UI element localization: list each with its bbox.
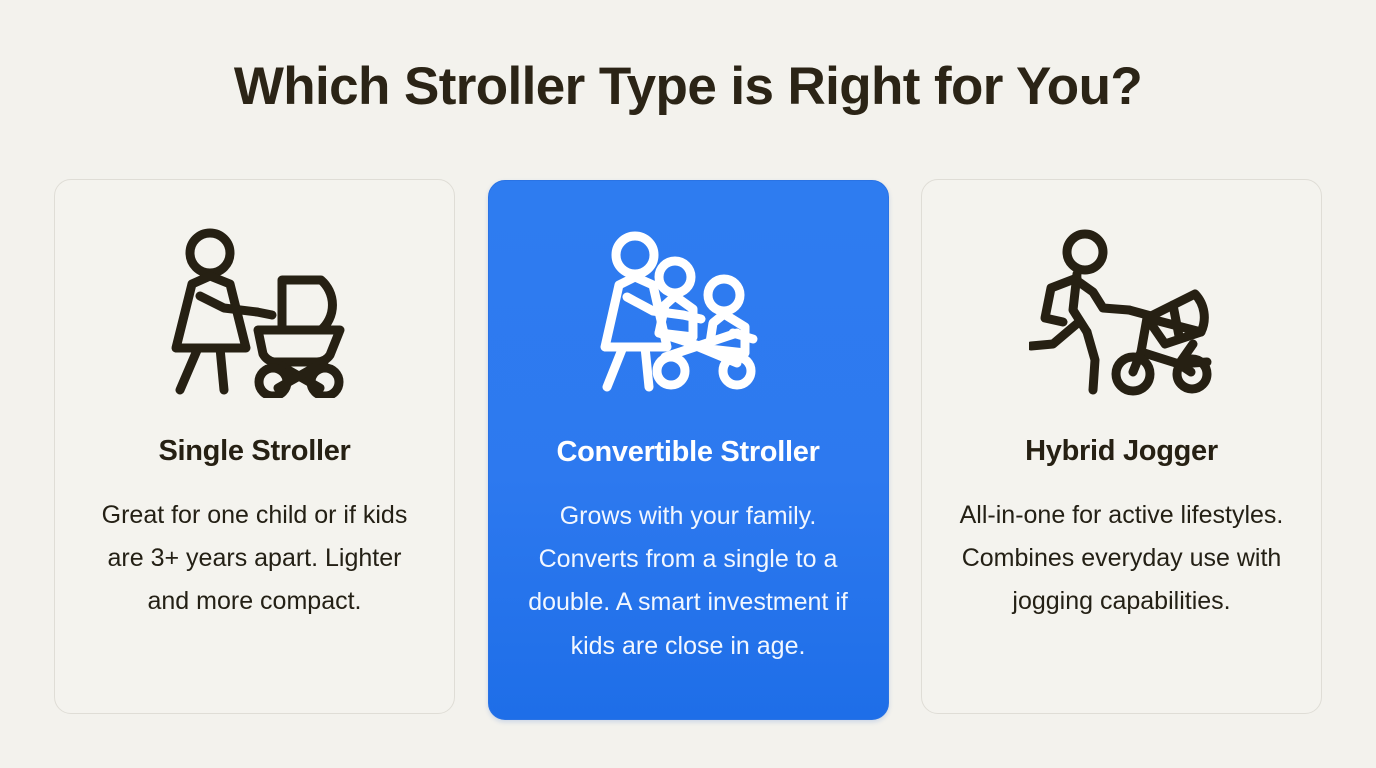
card-body-text: Great for one child or if kids are 3+ ye… <box>85 494 425 624</box>
card-heading: Single Stroller <box>158 434 350 469</box>
card-hybrid-jogger[interactable]: Hybrid Jogger All-in-one for active life… <box>921 179 1322 714</box>
convertible-stroller-icon <box>593 223 783 403</box>
page-title: Which Stroller Type is Right for You? <box>0 57 1376 118</box>
card-heading: Convertible Stroller <box>556 435 819 470</box>
card-body-text: Grows with your family. Converts from a … <box>523 495 853 668</box>
hybrid-jogger-icon <box>1027 222 1217 402</box>
card-body-text: All-in-one for active lifestyles. Combin… <box>952 494 1292 624</box>
card-heading: Hybrid Jogger <box>1025 434 1218 469</box>
card-single-stroller[interactable]: Single Stroller Great for one child or i… <box>54 179 455 714</box>
infographic-page: Which Stroller Type is Right for You? <box>0 0 1376 768</box>
single-stroller-icon <box>160 222 350 402</box>
card-convertible-stroller[interactable]: Convertible Stroller Grows with your fam… <box>488 180 889 720</box>
stroller-type-card-row: Single Stroller Great for one child or i… <box>54 179 1322 721</box>
